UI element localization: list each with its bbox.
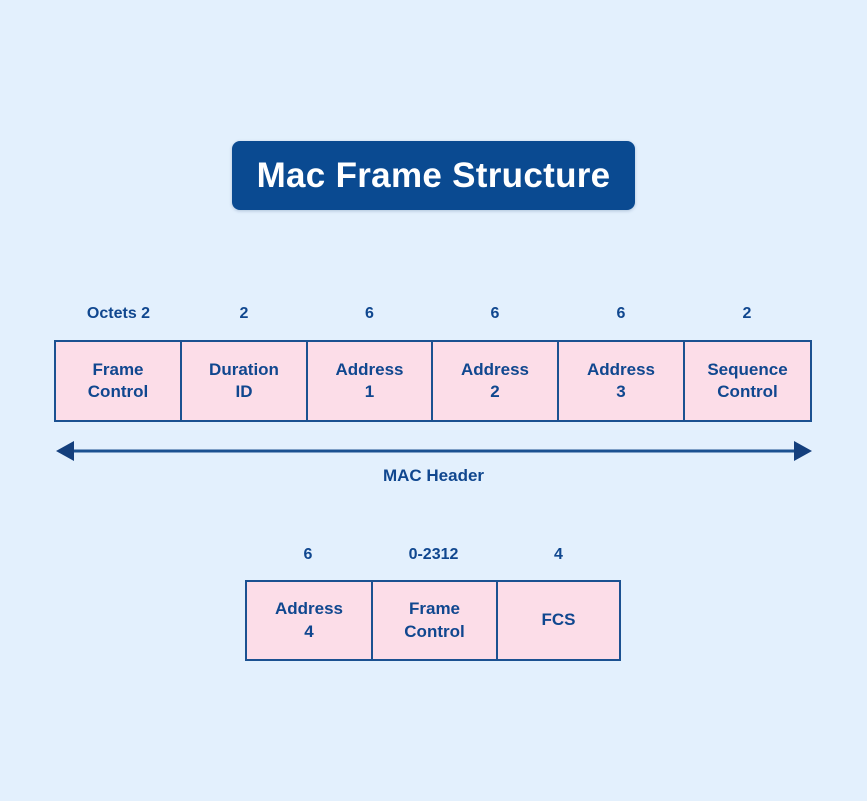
mac-header-field-row: Frame Control Duration ID Address 1 Addr… xyxy=(54,340,812,422)
field-frame-control-body-line2: Control xyxy=(404,621,464,643)
mac-header-span-label: MAC Header xyxy=(0,466,867,486)
double-arrow-icon xyxy=(54,438,814,464)
field-address-4: Address 4 xyxy=(247,582,373,659)
field-address-1-line1: Address xyxy=(335,359,403,381)
field-duration-id: Duration ID xyxy=(182,342,308,420)
field-address-1-line2: 1 xyxy=(335,381,403,403)
field-address-2-line2: 2 xyxy=(461,381,529,403)
field-fcs: FCS xyxy=(498,582,619,659)
field-frame-control: Frame Control xyxy=(56,342,182,420)
mac-frame-structure-diagram: Mac Frame Structure Octets 2 2 6 6 6 2 F… xyxy=(0,0,867,801)
field-address-3-line1: Address xyxy=(587,359,655,381)
field-address-2-line1: Address xyxy=(461,359,529,381)
mac-header-span-arrow xyxy=(54,438,814,464)
field-sequence-control-line1: Sequence xyxy=(707,359,787,381)
octet-label-fcs: 4 xyxy=(496,546,621,564)
field-duration-id-line1: Duration xyxy=(209,359,279,381)
octet-value-0: 2 xyxy=(141,305,150,322)
octets-prefix-label: Octets xyxy=(87,305,137,322)
field-address-2: Address 2 xyxy=(433,342,559,420)
octet-label-address-3: 6 xyxy=(558,305,684,323)
octet-label-duration-id: 2 xyxy=(181,305,307,323)
field-address-3-line2: 3 xyxy=(587,381,655,403)
diagram-title-badge: Mac Frame Structure xyxy=(232,141,635,210)
octet-label-address-1: 6 xyxy=(307,305,432,323)
field-fcs-line1: FCS xyxy=(542,609,576,631)
field-duration-id-line2: ID xyxy=(209,381,279,403)
field-address-3: Address 3 xyxy=(559,342,685,420)
octet-label-address-2: 6 xyxy=(432,305,558,323)
octet-label-frame-body: 0-2312 xyxy=(371,546,496,564)
field-address-1: Address 1 xyxy=(308,342,433,420)
field-frame-control-line1: Frame xyxy=(88,359,148,381)
page-title: Mac Frame Structure xyxy=(257,156,611,196)
mac-body-field-row: Address 4 Frame Control FCS xyxy=(245,580,621,661)
field-frame-control-body: Frame Control xyxy=(373,582,498,659)
octet-label-frame-control: Octets 2 xyxy=(56,305,181,323)
field-address-4-line1: Address xyxy=(275,598,343,620)
field-frame-control-line2: Control xyxy=(88,381,148,403)
field-address-4-line2: 4 xyxy=(275,621,343,643)
field-frame-control-body-line1: Frame xyxy=(404,598,464,620)
octet-label-sequence-control: 2 xyxy=(684,305,810,323)
field-sequence-control-line2: Control xyxy=(707,381,787,403)
octet-label-address-4: 6 xyxy=(245,546,371,564)
field-sequence-control: Sequence Control xyxy=(685,342,810,420)
